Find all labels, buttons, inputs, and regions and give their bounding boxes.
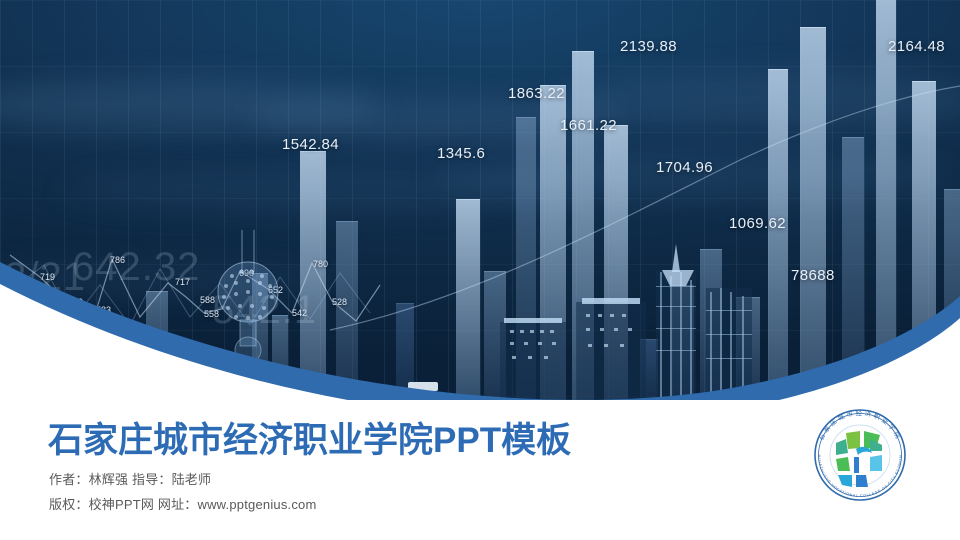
copyright-line: 版权：校神PPT网 网址：www.pptgenius.com xyxy=(49,494,317,513)
hero-banner: 1542.841345.61863.221661.222139.881704.9… xyxy=(0,0,960,400)
page-title: 石家庄城市经济职业学院PPT模板 xyxy=(48,412,571,463)
author-line: 作者：林辉强 指导：陆老师 xyxy=(49,469,211,488)
curved-divider xyxy=(0,240,960,400)
college-logo: 石家庄城市经济职业学院 SHIJIAZHUANG VOCATIONAL COLL… xyxy=(806,401,914,509)
presentation-title-slide: 1542.841345.61863.221661.222139.881704.9… xyxy=(0,0,960,540)
